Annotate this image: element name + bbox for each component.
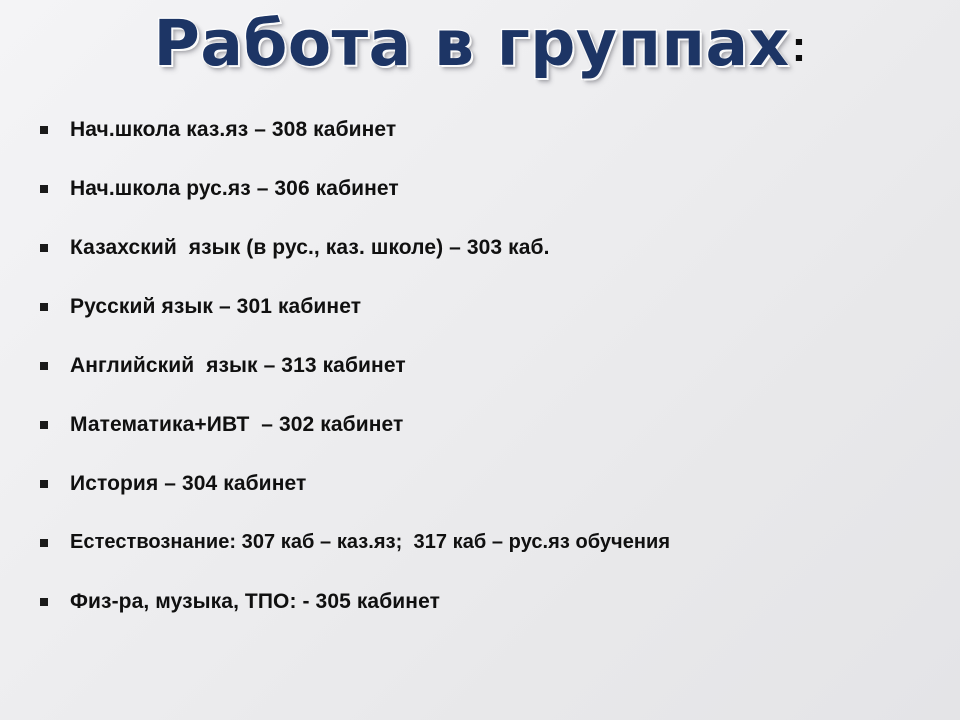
list-item: Нач.школа рус.яз – 306 кабинет — [0, 159, 960, 218]
square-bullet-icon — [40, 421, 48, 429]
list-item-label: История – 304 кабинет — [70, 472, 306, 496]
square-bullet-icon — [40, 480, 48, 488]
square-bullet-icon — [40, 244, 48, 252]
slide-title-wordart: Работа в группах — [154, 12, 790, 75]
square-bullet-icon — [40, 598, 48, 606]
list-item-label: Нач.школа каз.яз – 308 кабинет — [70, 118, 396, 142]
square-bullet-icon — [40, 539, 48, 547]
list-item: Физ-ра, музыка, ТПО: - 305 кабинет — [0, 572, 960, 631]
slide-title: Работа в группах: — [0, 12, 960, 75]
square-bullet-icon — [40, 303, 48, 311]
list-item: Математика+ИВТ – 302 кабинет — [0, 395, 960, 454]
square-bullet-icon — [40, 126, 48, 134]
list-item: Нач.школа каз.яз – 308 кабинет — [0, 100, 960, 159]
presentation-slide: Работа в группах: Нач.школа каз.яз – 308… — [0, 0, 960, 720]
list-item-label: Математика+ИВТ – 302 кабинет — [70, 413, 403, 437]
list-item-label: Физ-ра, музыка, ТПО: - 305 кабинет — [70, 590, 440, 614]
list-item: Естествознание: 307 каб – каз.яз; 317 ка… — [0, 513, 960, 572]
list-item-label: Естествознание: 307 каб – каз.яз; 317 ка… — [70, 531, 670, 554]
square-bullet-icon — [40, 362, 48, 370]
list-item-label: Казахский язык (в рус., каз. школе) – 30… — [70, 236, 550, 260]
list-item: Русский язык – 301 кабинет — [0, 277, 960, 336]
slide-title-colon: : — [792, 25, 807, 69]
list-item: Казахский язык (в рус., каз. школе) – 30… — [0, 218, 960, 277]
group-assignment-list: Нач.школа каз.яз – 308 кабинет Нач.школа… — [0, 100, 960, 631]
list-item-label: Русский язык – 301 кабинет — [70, 295, 361, 319]
list-item: История – 304 кабинет — [0, 454, 960, 513]
square-bullet-icon — [40, 185, 48, 193]
list-item: Английский язык – 313 кабинет — [0, 336, 960, 395]
list-item-label: Нач.школа рус.яз – 306 кабинет — [70, 177, 399, 201]
list-item-label: Английский язык – 313 кабинет — [70, 354, 406, 378]
